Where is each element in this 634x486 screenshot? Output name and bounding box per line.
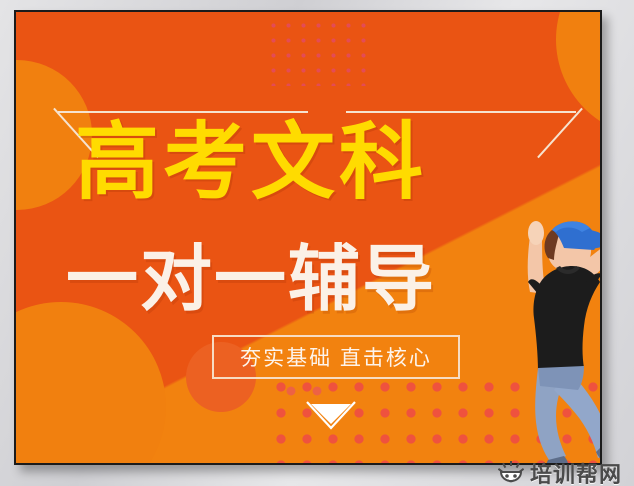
sunburst-face-icon [498,461,524,485]
jumping-student-illustration [486,208,602,465]
chevron-down-icon [303,400,359,430]
watermark: 培训帮网 [492,455,628,486]
watermark-text: 培训帮网 [530,457,622,486]
bracket-left-horizontal-icon [58,111,308,113]
poster-subtitle-frame: 夯实基础 直击核心 [212,335,460,379]
screenshot-stage: 高考文科 一对一辅导 夯实基础 直击核心 [0,0,634,486]
dot-grid-bottom-left-icon [278,378,338,402]
dot-grid-top-icon [266,18,374,86]
bracket-right-horizontal-icon [346,111,576,113]
poster-subtitle-text: 夯实基础 直击核心 [240,342,432,372]
promo-poster: 高考文科 一对一辅导 夯实基础 直击核心 [14,10,602,465]
